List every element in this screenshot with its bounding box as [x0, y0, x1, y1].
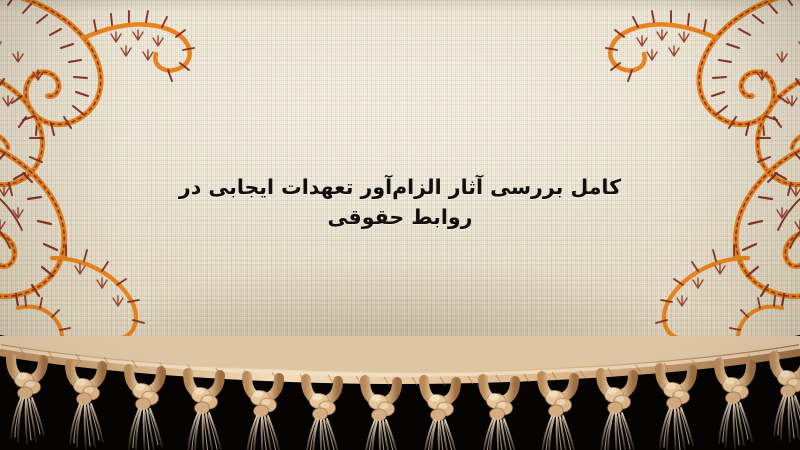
textile-title-card: کامل بررسی آثار الزام‌آور تعهدات ایجابی … [0, 0, 800, 450]
title-block: کامل بررسی آثار الزام‌آور تعهدات ایجابی … [0, 172, 800, 232]
title-line-1: کامل بررسی آثار الزام‌آور تعهدات ایجابی … [0, 172, 800, 202]
title-line-2: روابط حقوقی [0, 202, 800, 232]
